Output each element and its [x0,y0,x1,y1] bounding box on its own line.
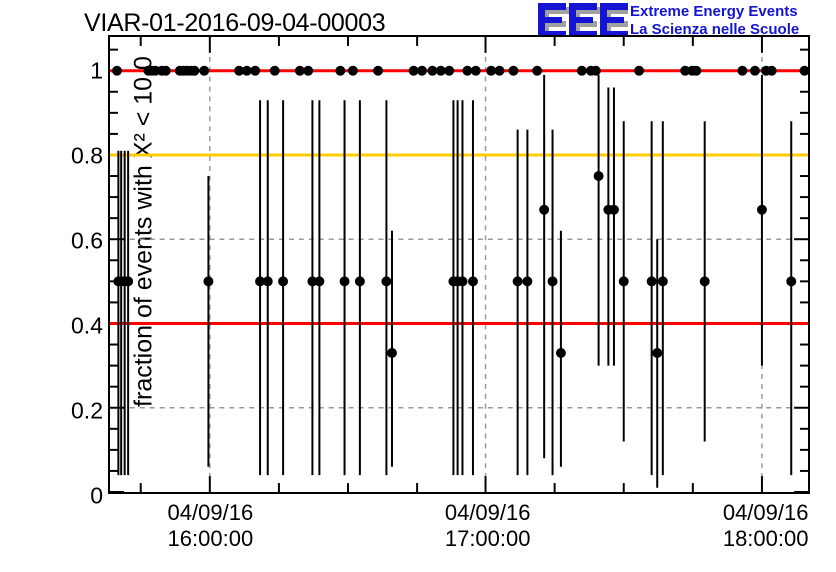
plot-frame: fraction of events with X² < 10.0 00.20.… [108,35,810,494]
y-tick-label: 0.8 [71,143,103,170]
y-tick-label: 0 [90,483,103,510]
y-tick-label: 1 [90,58,103,85]
x-tick-time: 18:00:00 [723,526,809,552]
x-tick-time: 17:00:00 [445,526,531,552]
x-tick-date: 04/09/16 [723,500,809,526]
y-tick-label: 0.4 [71,313,103,340]
y-tick-label: 0.2 [71,398,103,425]
x-tick-label: 04/09/1618:00:00 [723,500,809,552]
x-tick-date: 04/09/16 [168,500,254,526]
x-tick-label: 04/09/1617:00:00 [445,500,531,552]
chart-page: VIAR-01-2016-09-04-00003 Extreme Energy … [0,0,836,572]
x-tick-date: 04/09/16 [445,500,531,526]
plot-canvas [110,37,808,492]
logo-text: Extreme Energy Events La Scienza nelle S… [630,3,799,39]
x-tick-label: 04/09/1616:00:00 [168,500,254,552]
x-tick-time: 16:00:00 [168,526,254,552]
logo-line-1: Extreme Energy Events [630,3,798,20]
axis-ticks [110,37,808,492]
y-tick-label: 0.6 [71,228,103,255]
gridlines [110,37,808,492]
